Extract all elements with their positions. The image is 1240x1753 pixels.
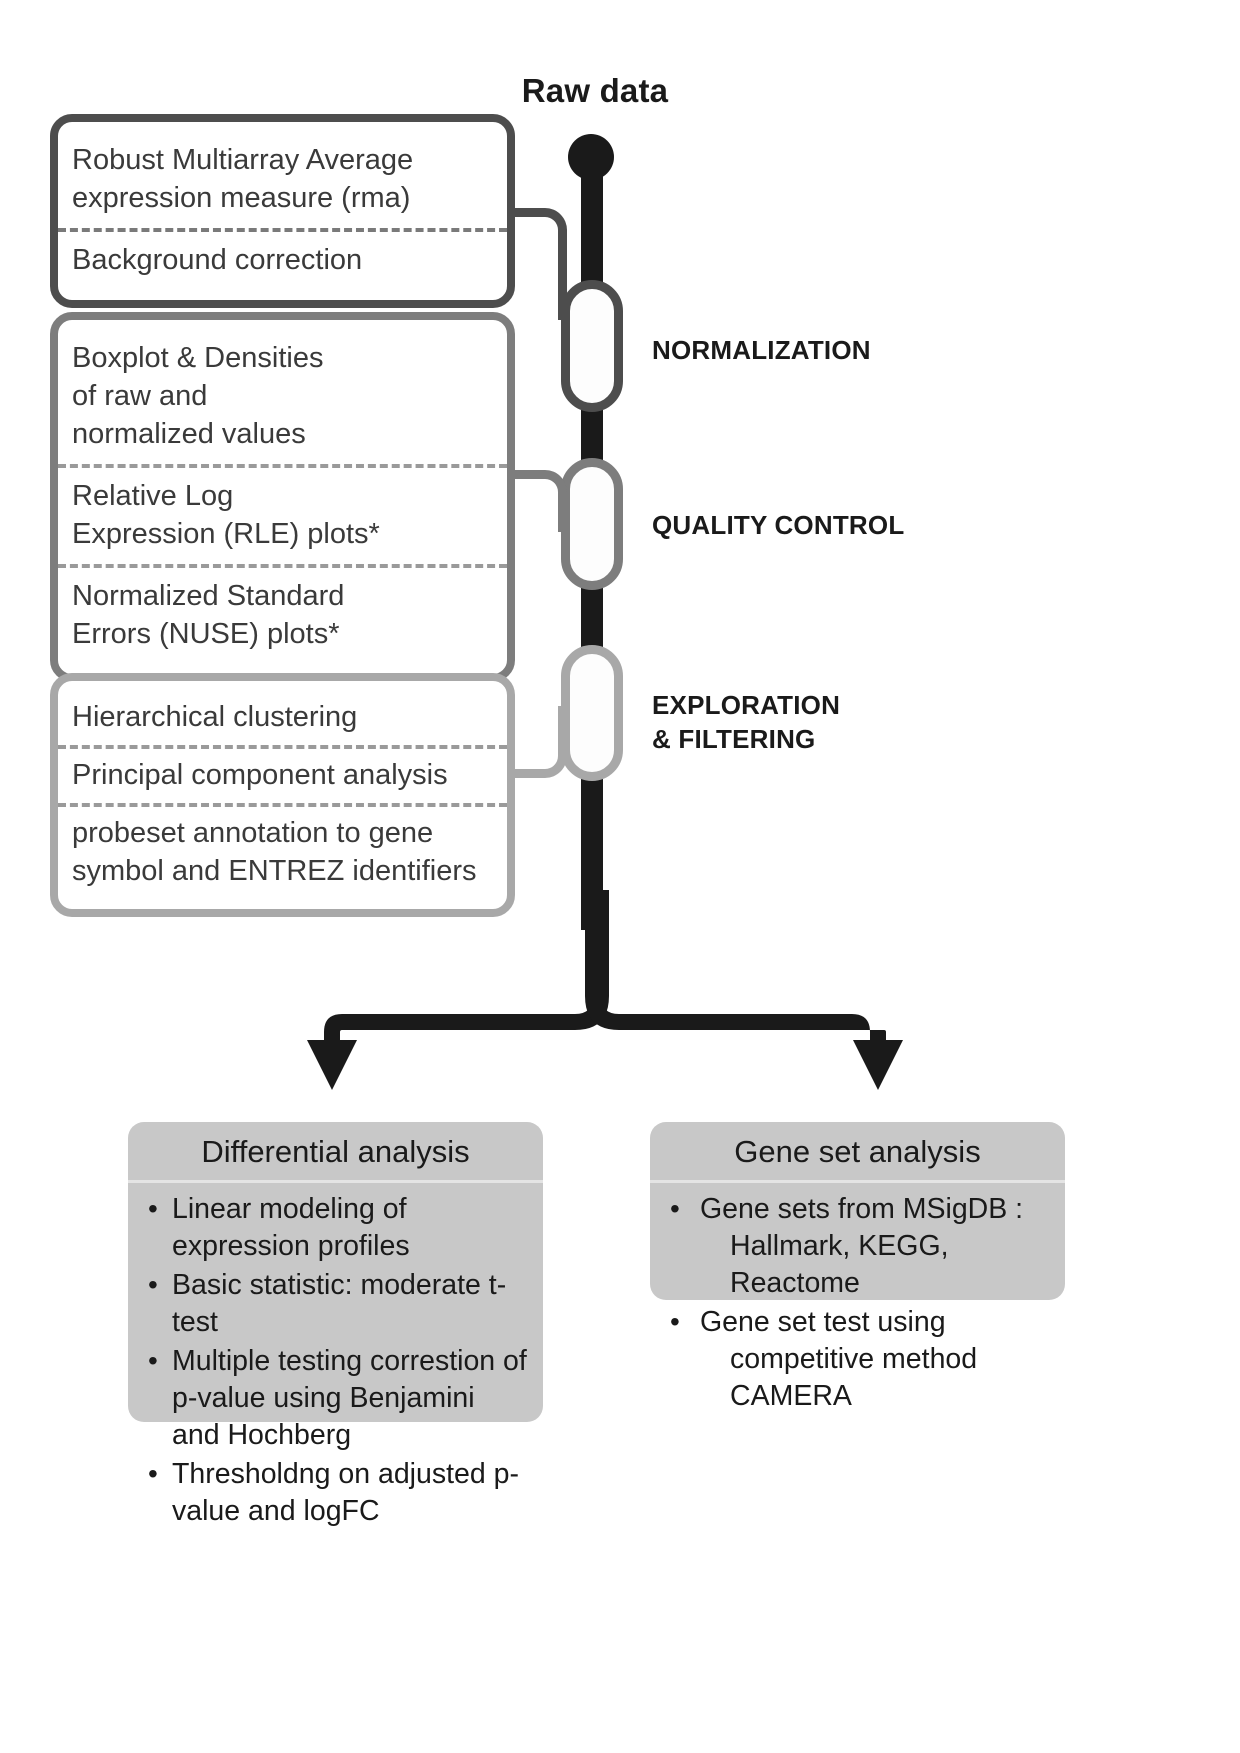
list-item-cont: competitive method bbox=[700, 1341, 1051, 1378]
fork-arrows bbox=[280, 890, 920, 1090]
info-row: Background correction bbox=[58, 228, 507, 290]
list-item-head: Gene set test using bbox=[700, 1306, 946, 1338]
workflow-diagram: Raw data NORMALIZATION QUALITY CONTROL E… bbox=[0, 0, 1240, 1753]
stage-label-exploration-line1: EXPLORATION bbox=[652, 690, 840, 720]
bullet-list-gene-set-analysis: Gene sets from MSigDB : Hallmark, KEGG, … bbox=[650, 1183, 1065, 1427]
list-item-cont: CAMERA bbox=[700, 1378, 1051, 1415]
info-row: probeset annotation to genesymbol and EN… bbox=[58, 803, 507, 899]
info-box-quality-control: Boxplot & Densitiesof raw andnormalized … bbox=[50, 312, 515, 682]
list-item: Gene sets from MSigDB : Hallmark, KEGG, … bbox=[664, 1191, 1051, 1302]
stage-capsule-exploration bbox=[561, 645, 623, 781]
list-item-cont: Reactome bbox=[700, 1265, 1051, 1302]
info-row: Boxplot & Densitiesof raw andnormalized … bbox=[58, 330, 507, 464]
info-row: Relative LogExpression (RLE) plots* bbox=[58, 464, 507, 564]
list-item-head: Gene sets from MSigDB : bbox=[700, 1193, 1023, 1225]
stage-capsule-quality-control bbox=[561, 458, 623, 590]
info-box-normalization: Robust Multiarray Averageexpression meas… bbox=[50, 114, 515, 308]
connector-quality-control bbox=[515, 470, 567, 532]
list-item: Multiple testing correstion of p-value u… bbox=[142, 1343, 529, 1454]
panel-title-differential-analysis: Differential analysis bbox=[128, 1122, 543, 1183]
list-item: Thresholdng on adjusted p-value and logF… bbox=[142, 1456, 529, 1530]
list-item: Gene set test using competitive method C… bbox=[664, 1304, 1051, 1415]
info-row: Robust Multiarray Averageexpression meas… bbox=[58, 132, 507, 228]
info-row: Hierarchical clustering bbox=[58, 691, 507, 745]
info-row: Principal component analysis bbox=[58, 745, 507, 803]
fork-left-arrow bbox=[307, 890, 609, 1090]
connector-normalization bbox=[515, 208, 567, 320]
list-item-cont: Hallmark, KEGG, bbox=[700, 1228, 1051, 1265]
panel-differential-analysis: Differential analysis Linear modeling of… bbox=[128, 1122, 543, 1422]
fork-right-arrow bbox=[585, 890, 903, 1090]
list-item: Linear modeling of expression profiles bbox=[142, 1191, 529, 1265]
raw-data-title: Raw data bbox=[430, 72, 760, 110]
stage-label-exploration-line2: & FILTERING bbox=[652, 724, 815, 754]
stage-capsule-normalization bbox=[561, 280, 623, 412]
connector-exploration bbox=[515, 706, 567, 778]
stage-label-normalization: NORMALIZATION bbox=[652, 333, 871, 367]
info-box-exploration-filtering: Hierarchical clustering Principal compon… bbox=[50, 673, 515, 917]
panel-gene-set-analysis: Gene set analysis Gene sets from MSigDB … bbox=[650, 1122, 1065, 1300]
panel-title-gene-set-analysis: Gene set analysis bbox=[650, 1122, 1065, 1183]
bullet-list-differential-analysis: Linear modeling of expression profiles B… bbox=[128, 1183, 543, 1542]
stage-label-exploration: EXPLORATION & FILTERING bbox=[652, 688, 840, 756]
list-item: Basic statistic: moderate t-test bbox=[142, 1267, 529, 1341]
info-row: Normalized StandardErrors (NUSE) plots* bbox=[58, 564, 507, 664]
stage-label-quality-control: QUALITY CONTROL bbox=[652, 508, 904, 542]
